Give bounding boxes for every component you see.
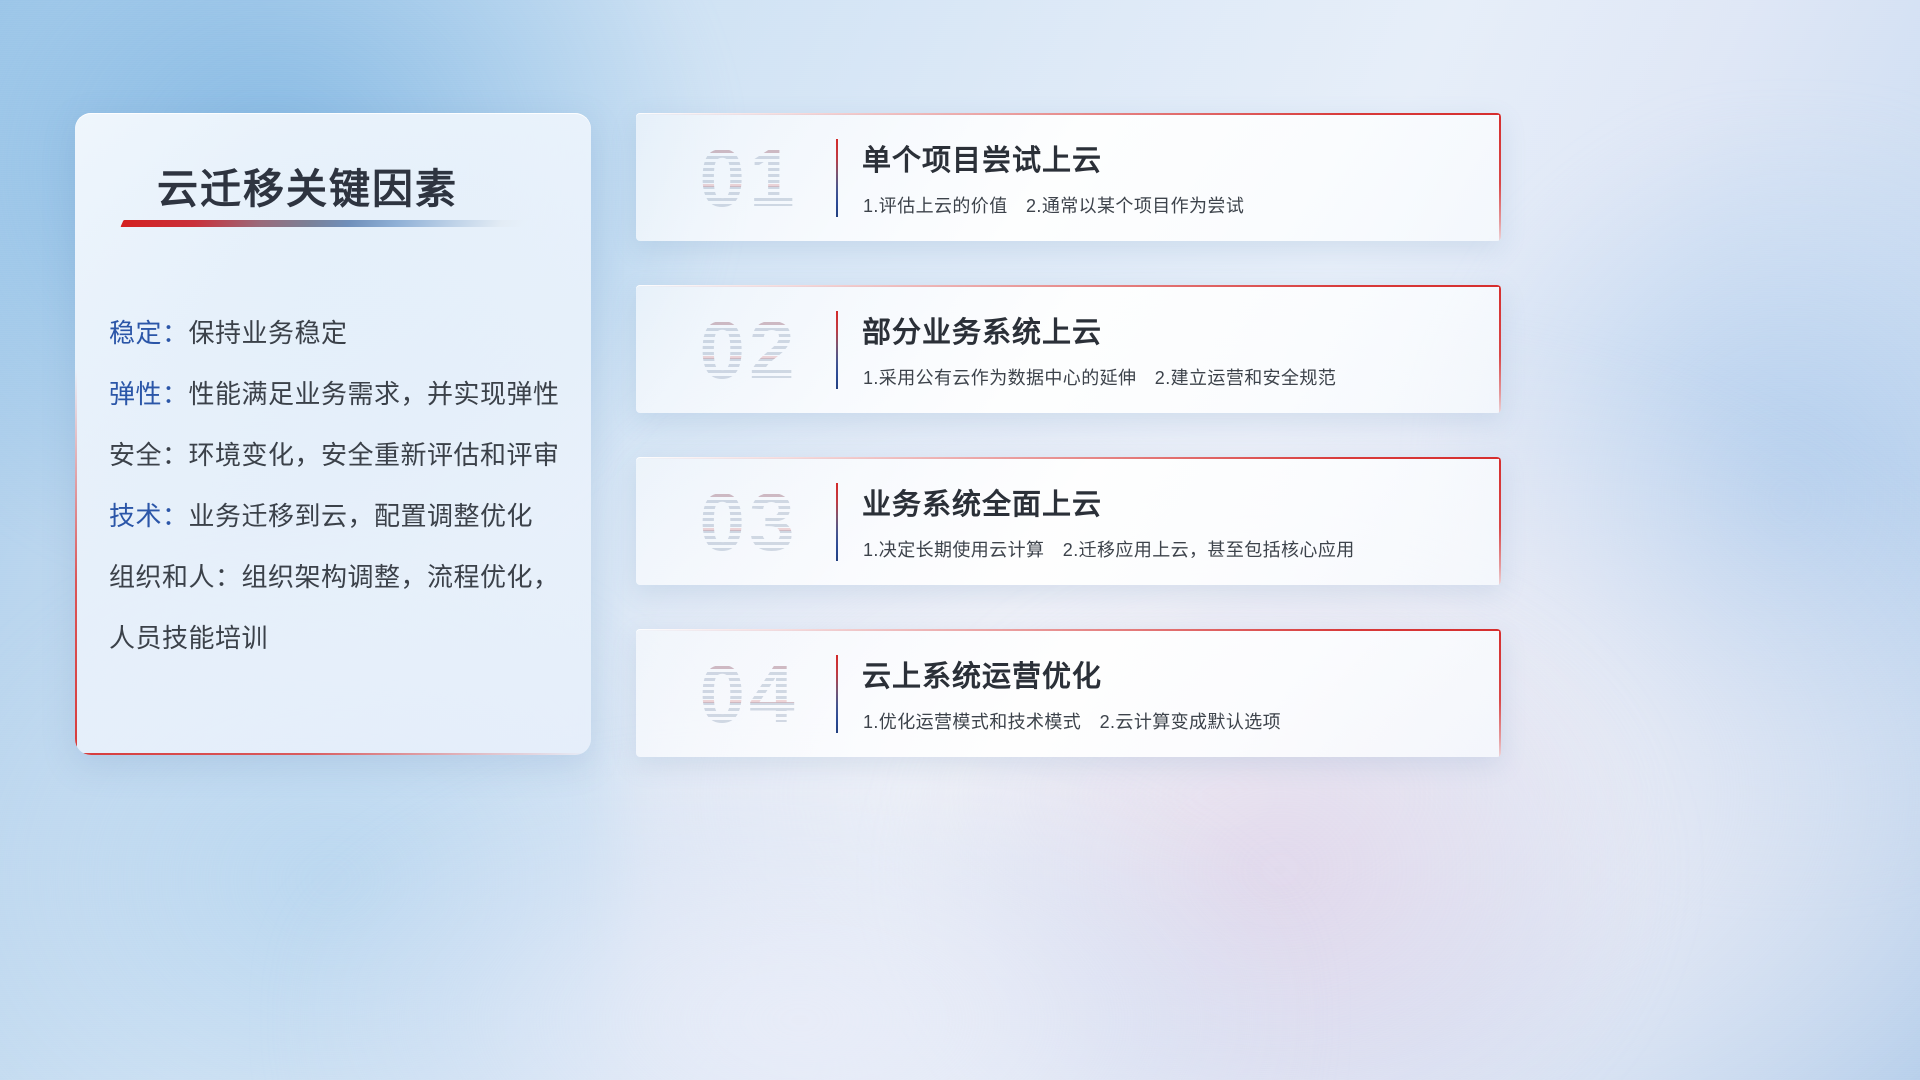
card-right-accent-line (1499, 113, 1501, 241)
card-right-accent-line (1499, 285, 1501, 413)
card-top-accent-line (636, 113, 1501, 115)
stage-title: 部分业务系统上云 (862, 309, 1102, 351)
card-vertical-accent-bar (836, 311, 838, 389)
list-item: 技术：业务迁移到云，配置调整优化 (109, 486, 571, 547)
panel-left-accent-line (75, 370, 77, 755)
list-item-text: 性能满足业务需求，并实现弹性 (189, 379, 560, 409)
stage-card[interactable]: 04 04 云上系统运营优化 1.优化运营模式和技术模式 2.云计算变成默认选项 (636, 629, 1501, 757)
panel-bottom-accent-line (75, 753, 591, 755)
list-item-text: 保持业务稳定 (189, 318, 348, 348)
list-item-label: 稳定： (109, 318, 189, 348)
stage-number-watermark-tint: 03 (669, 471, 829, 575)
key-factors-list: 稳定：保持业务稳定 弹性：性能满足业务需求，并实现弹性 安全：环境变化，安全重新… (109, 303, 571, 669)
list-item: 人员技能培训 (109, 608, 571, 669)
list-item-label: 技术： (109, 501, 189, 531)
card-vertical-accent-bar (836, 483, 838, 561)
list-item-label: 安全： (109, 440, 189, 470)
card-right-accent-line (1499, 629, 1501, 757)
stages-card-list: 01 01 单个项目尝试上云 1.评估上云的价值 2.通常以某个项目作为尝试 0… (636, 113, 1501, 801)
background-glow-bottom (300, 760, 1300, 1080)
stage-number-watermark-tint: 04 (669, 643, 829, 747)
list-item: 稳定：保持业务稳定 (109, 303, 571, 364)
card-top-accent-line (636, 457, 1501, 459)
card-top-accent-line (636, 285, 1501, 287)
list-item-text: 人员技能培训 (109, 623, 268, 653)
list-item-text: 业务迁移到云，配置调整优化 (189, 501, 534, 531)
page-title: 云迁移关键因素 (157, 155, 458, 215)
stage-card[interactable]: 03 03 业务系统全面上云 1.决定长期使用云计算 2.迁移应用上云，甚至包括… (636, 457, 1501, 585)
stage-number-watermark-tint: 02 (669, 299, 829, 403)
list-item: 安全：环境变化，安全重新评估和评审 (109, 425, 571, 486)
title-underline-gradient (120, 220, 527, 227)
list-item: 组织和人：组织架构调整，流程优化， (109, 547, 571, 608)
stage-title: 单个项目尝试上云 (862, 137, 1102, 179)
stage-number-watermark-tint: 01 (669, 127, 829, 231)
key-factors-panel: 云迁移关键因素 稳定：保持业务稳定 弹性：性能满足业务需求，并实现弹性 安全：环… (75, 113, 591, 755)
stage-title: 业务系统全面上云 (862, 481, 1102, 523)
list-item: 弹性：性能满足业务需求，并实现弹性 (109, 364, 571, 425)
stage-title: 云上系统运营优化 (862, 653, 1102, 695)
stage-card[interactable]: 02 02 部分业务系统上云 1.采用公有云作为数据中心的延伸 2.建立运营和安… (636, 285, 1501, 413)
list-item-text: 组织架构调整，流程优化， (242, 562, 560, 592)
card-top-accent-line (636, 629, 1501, 631)
stage-description: 1.优化运营模式和技术模式 2.云计算变成默认选项 (863, 708, 1281, 734)
card-right-accent-line (1499, 457, 1501, 585)
card-vertical-accent-bar (836, 139, 838, 217)
card-vertical-accent-bar (836, 655, 838, 733)
stage-description: 1.评估上云的价值 2.通常以某个项目作为尝试 (863, 192, 1244, 218)
list-item-label: 组织和人： (109, 562, 242, 592)
list-item-text: 环境变化，安全重新评估和评审 (189, 440, 560, 470)
stage-description: 1.决定长期使用云计算 2.迁移应用上云，甚至包括核心应用 (863, 536, 1355, 562)
stage-description: 1.采用公有云作为数据中心的延伸 2.建立运营和安全规范 (863, 364, 1336, 390)
list-item-label: 弹性： (109, 379, 189, 409)
stage-card[interactable]: 01 01 单个项目尝试上云 1.评估上云的价值 2.通常以某个项目作为尝试 (636, 113, 1501, 241)
